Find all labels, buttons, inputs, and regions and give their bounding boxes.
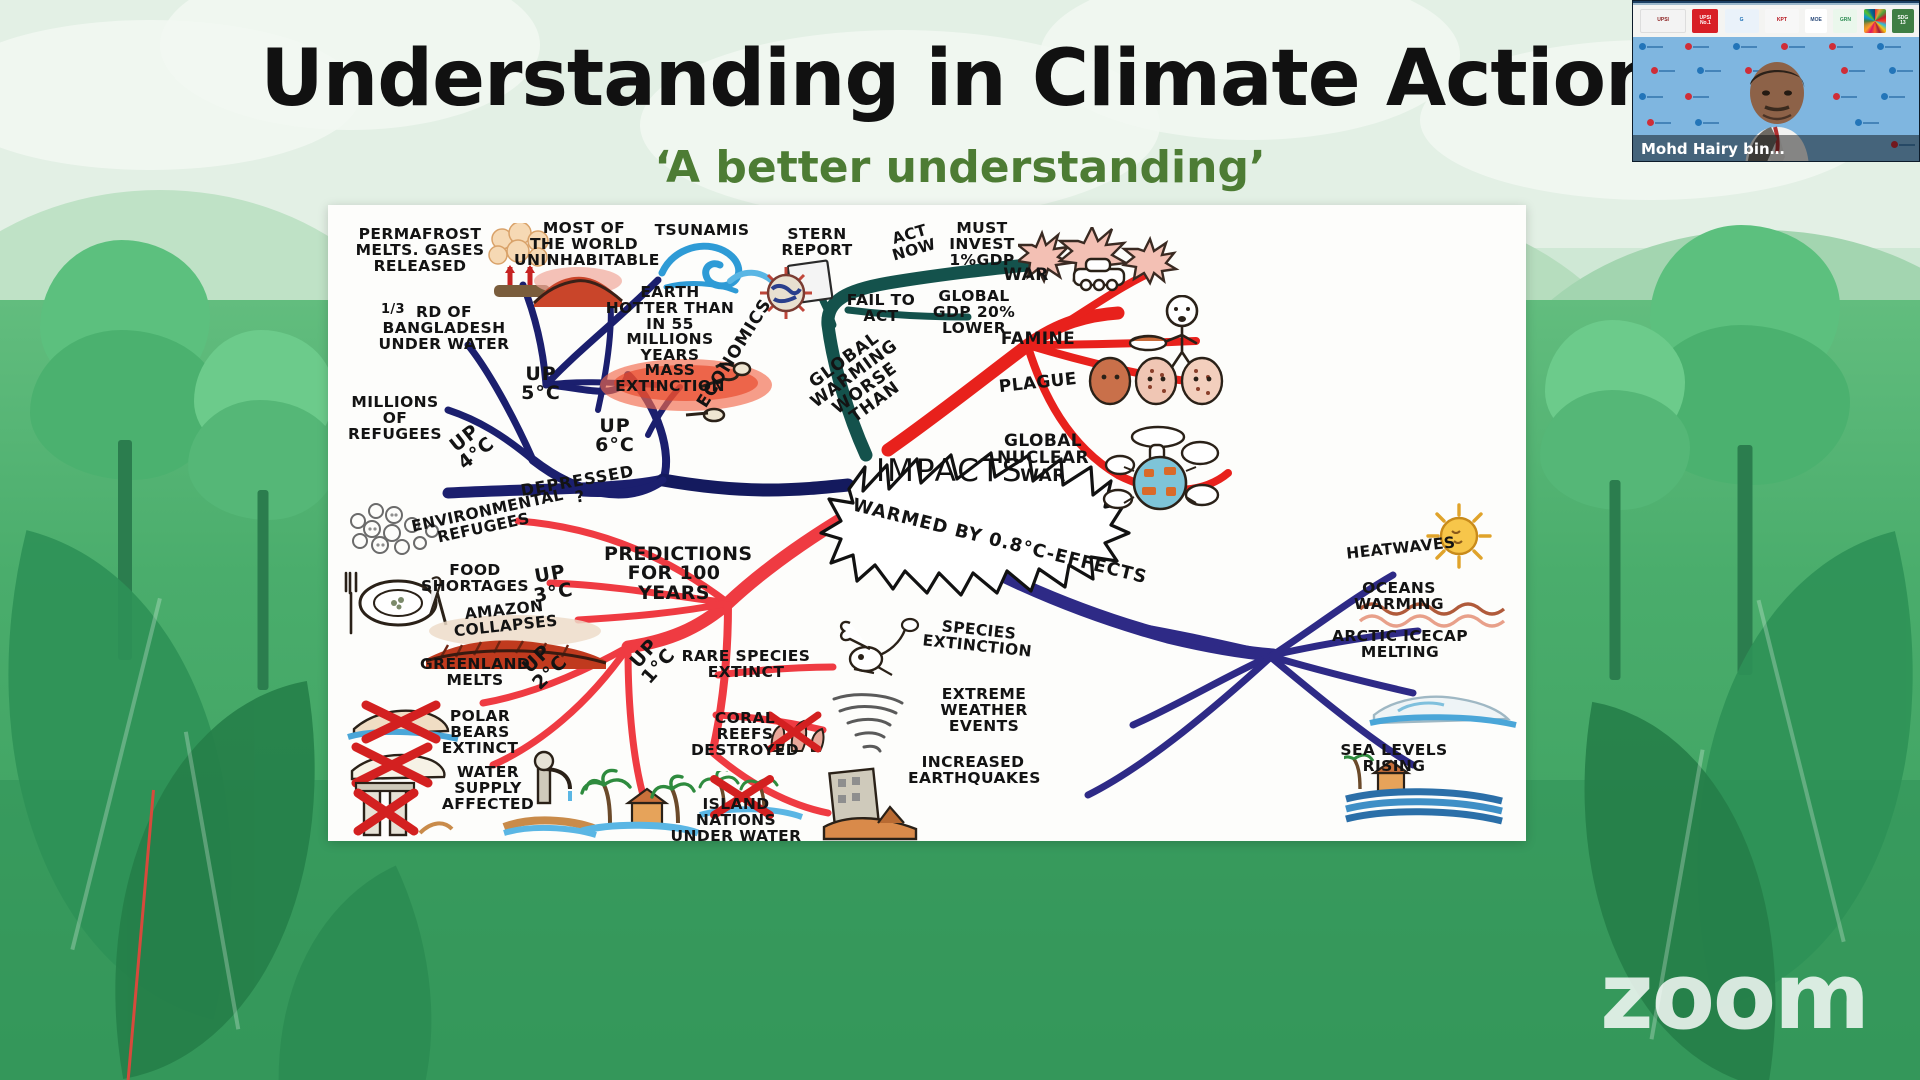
arctic-icecap-melting-doodle: [1368, 667, 1518, 733]
mindmap-label-polar-bears: POLAR BEARS EXTINCT: [420, 709, 540, 756]
participant-video-tile[interactable]: UPSI UPSINo.1 G KPT MOE GRN SDG13: [1632, 0, 1920, 162]
background-logo-tile: [1829, 43, 1853, 50]
participant-name-label: Mohd Hairy bin…: [1633, 135, 1920, 162]
logo-upsi-no1: UPSINo.1: [1692, 9, 1718, 33]
background-logo-tile: [1881, 93, 1905, 100]
background-logo-tile: [1733, 43, 1757, 50]
logo-moe: MOE: [1805, 9, 1827, 33]
mindmap-label-bangladesh-fraction: 1/3: [380, 303, 406, 316]
logo-kpt: KPT: [1765, 9, 1799, 33]
logo-sdg-wheel: [1864, 9, 1886, 33]
tree-decoration: [1540, 320, 1690, 680]
mindmap-center-impacts: IMPACTS: [876, 453, 1024, 489]
mindmap-label-water-supply: WATER SUPPLY AFFECTED: [426, 765, 550, 812]
mindmap-label-fail-to-act: FAIL TO ACT: [838, 293, 924, 325]
logo-upsi-seal: UPSI: [1640, 9, 1686, 33]
tree-decoration: [188, 330, 338, 690]
mindmap-label-millions-refugees: MILLIONS OF REFUGEES: [340, 395, 450, 442]
background-logo-tile: [1639, 93, 1663, 100]
background-logo-tile: [1647, 119, 1671, 126]
mindmap-label-earthquakes: INCREASED EARTHQUAKES: [908, 755, 1038, 787]
logo-green: GRN: [1833, 9, 1857, 33]
logo-sdg-13: SDG13: [1892, 9, 1914, 33]
mindmap-label-oceans-warming: OCEANS WARMING: [1324, 581, 1474, 613]
mindmap-label-permafrost: PERMAFROST MELTS. GASES RELEASED: [350, 227, 490, 274]
background-logo-tile: [1877, 43, 1901, 50]
background-logo-tile: [1685, 43, 1709, 50]
mindmap-label-tsunamis: TSUNAMIS: [646, 223, 758, 239]
zoom-watermark: zoom: [1600, 943, 1868, 1050]
mindmap-label-up5c: UP 5°C: [506, 365, 576, 404]
mindmap-label-island-nations: ISLAND NATIONS UNDER WATER: [666, 797, 806, 841]
background-logo-tile: [1639, 43, 1663, 50]
nuclear-explosion-globe-doodle: [1098, 425, 1228, 525]
mindmap-label-extreme-weather: EXTREME WEATHER EVENTS: [910, 687, 1058, 734]
mindmap-label-war: WAR: [996, 267, 1056, 284]
background-logo-tile: [1833, 93, 1857, 100]
background-logo-tile: [1889, 67, 1913, 74]
tornado-doodle: [826, 689, 910, 759]
background-logo-tile: [1695, 119, 1719, 126]
shared-screen-slide: Understanding in Climate Action ‘A bette…: [0, 0, 1920, 1080]
mindmap-label-stern-report: STERN REPORT: [762, 227, 872, 259]
logo-globe-blue: G: [1725, 9, 1759, 33]
mindmap-label-famine: FAMINE: [988, 331, 1088, 348]
background-logo-tile: [1841, 67, 1865, 74]
plague-faces-doodle: [1088, 355, 1226, 407]
mindmap-label-most-of-world: MOST OF THE WORLD UNINHABITABLE: [514, 221, 654, 268]
mindmap-label-coral-reefs: CORAL REEFS DESTROYED: [684, 711, 806, 758]
virtual-background: Mohd Hairy bin…: [1633, 37, 1920, 162]
mindmap-label-rare-species: RARE SPECIES EXTINCT: [680, 649, 812, 681]
background-logo-tile: [1781, 43, 1805, 50]
mindmap-label-arctic-icecap: ARCTIC ICECAP MELTING: [1330, 629, 1470, 661]
war-explosions-doodle: [1018, 227, 1188, 299]
mindmap-label-must-invest: MUST INVEST 1%GDP: [932, 221, 1032, 268]
background-logo-tile: [1651, 67, 1675, 74]
background-logo-tile: [1855, 119, 1879, 126]
mindmap-label-earth-hotter: EARTH HOTTER THAN IN 55 MILLIONS YEARS: [600, 285, 740, 364]
virtual-background-logo-banner: UPSI UPSINo.1 G KPT MOE GRN SDG13: [1633, 3, 1920, 37]
mindmap-label-up6c: UP 6°C: [580, 417, 650, 456]
mindmap-label-predictions: PREDICTIONS FOR 100 YEARS: [604, 545, 744, 603]
climate-impacts-mindmap: PERMAFROST MELTS. GASES RELEASED MOST OF…: [328, 205, 1526, 841]
background-logo-tile: [1697, 67, 1721, 74]
background-logo-tile: [1685, 93, 1709, 100]
mindmap-label-sea-levels: SEA LEVELS RISING: [1314, 743, 1474, 775]
